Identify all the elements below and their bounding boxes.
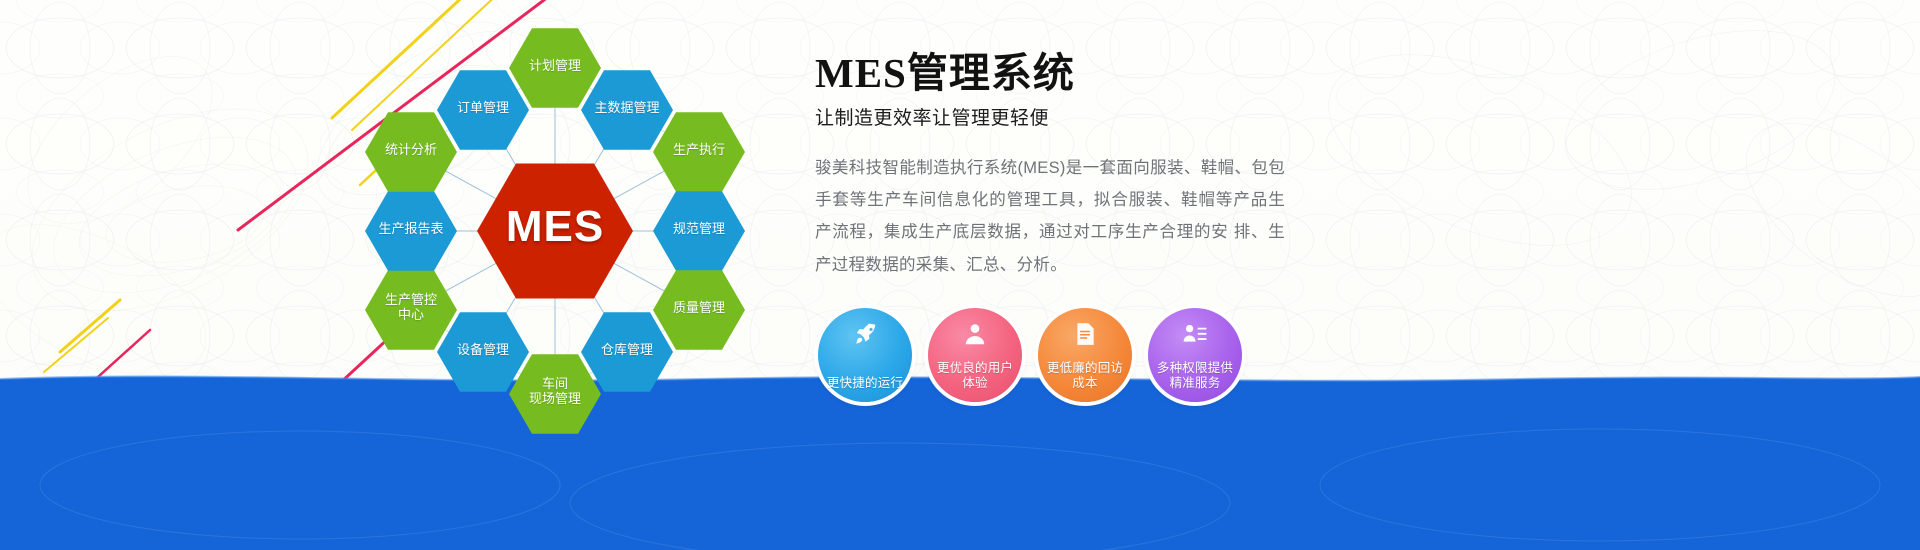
banner-copy: MES管理系统 让制造更效率让管理更轻便 骏美科技智能制造执行系统(MES)是一… — [815, 52, 1285, 281]
description-text: 骏美科技智能制造执行系统(MES)是一套面向服装、鞋帽、包包手套等生产车间信息化… — [815, 152, 1285, 281]
hex-node-center[interactable] — [477, 164, 633, 299]
page-title: MES管理系统 — [815, 52, 1285, 95]
hex-node-standard[interactable] — [653, 191, 745, 271]
hex-node-equipment[interactable] — [437, 312, 529, 392]
feature-badge-fast[interactable]: 更快捷的运行 — [818, 308, 912, 402]
hex-diagram-svg — [300, 10, 840, 440]
hex-node-order[interactable] — [437, 70, 529, 150]
hex-node-workshop[interactable] — [509, 354, 601, 434]
feature-badge-label-fast: 更快捷的运行 — [822, 376, 908, 391]
feature-badge-experience[interactable]: 更优良的用户体验 — [928, 308, 1022, 402]
hex-node-warehouse[interactable] — [581, 312, 673, 392]
feature-badge-label-permission: 多种权限提供精准服务 — [1152, 361, 1238, 392]
userlist-icon — [1180, 319, 1210, 349]
hex-node-stats[interactable] — [365, 112, 457, 192]
rocket-icon — [850, 319, 880, 349]
hex-node-control[interactable] — [365, 270, 457, 350]
banner-stage: 计划管理主数据管理生产执行规范管理质量管理仓库管理车间现场管理设备管理生产管控中… — [0, 0, 1920, 550]
mes-hex-diagram: 计划管理主数据管理生产执行规范管理质量管理仓库管理车间现场管理设备管理生产管控中… — [300, 10, 840, 440]
feature-badge-label-experience-line2: 体验 — [932, 376, 1018, 391]
hex-node-plan[interactable] — [509, 28, 601, 108]
feature-badge-list: 更快捷的运行更优良的用户体验更低廉的回访成本多种权限提供精准服务 — [818, 308, 1242, 402]
hex-node-quality[interactable] — [653, 270, 745, 350]
hex-node-execute[interactable] — [653, 112, 745, 192]
page-subtitle: 让制造更效率让管理更轻便 — [815, 103, 1285, 130]
page-description: 骏美科技智能制造执行系统(MES)是一套面向服装、鞋帽、包包手套等生产车间信息化… — [815, 152, 1285, 281]
feature-badge-label-cost: 更低廉的回访成本 — [1042, 361, 1128, 392]
feature-badge-cost[interactable]: 更低廉的回访成本 — [1038, 308, 1132, 402]
hex-node-masterdata[interactable] — [581, 70, 673, 150]
feature-badge-label-permission-line2: 精准服务 — [1152, 376, 1238, 391]
user-icon — [960, 319, 990, 349]
feature-badge-permission[interactable]: 多种权限提供精准服务 — [1148, 308, 1242, 402]
feature-badge-label-cost-line2: 成本 — [1042, 376, 1128, 391]
hex-node-report[interactable] — [365, 191, 457, 271]
document-icon — [1070, 319, 1100, 349]
feature-badge-label-experience: 更优良的用户体验 — [932, 361, 1018, 392]
